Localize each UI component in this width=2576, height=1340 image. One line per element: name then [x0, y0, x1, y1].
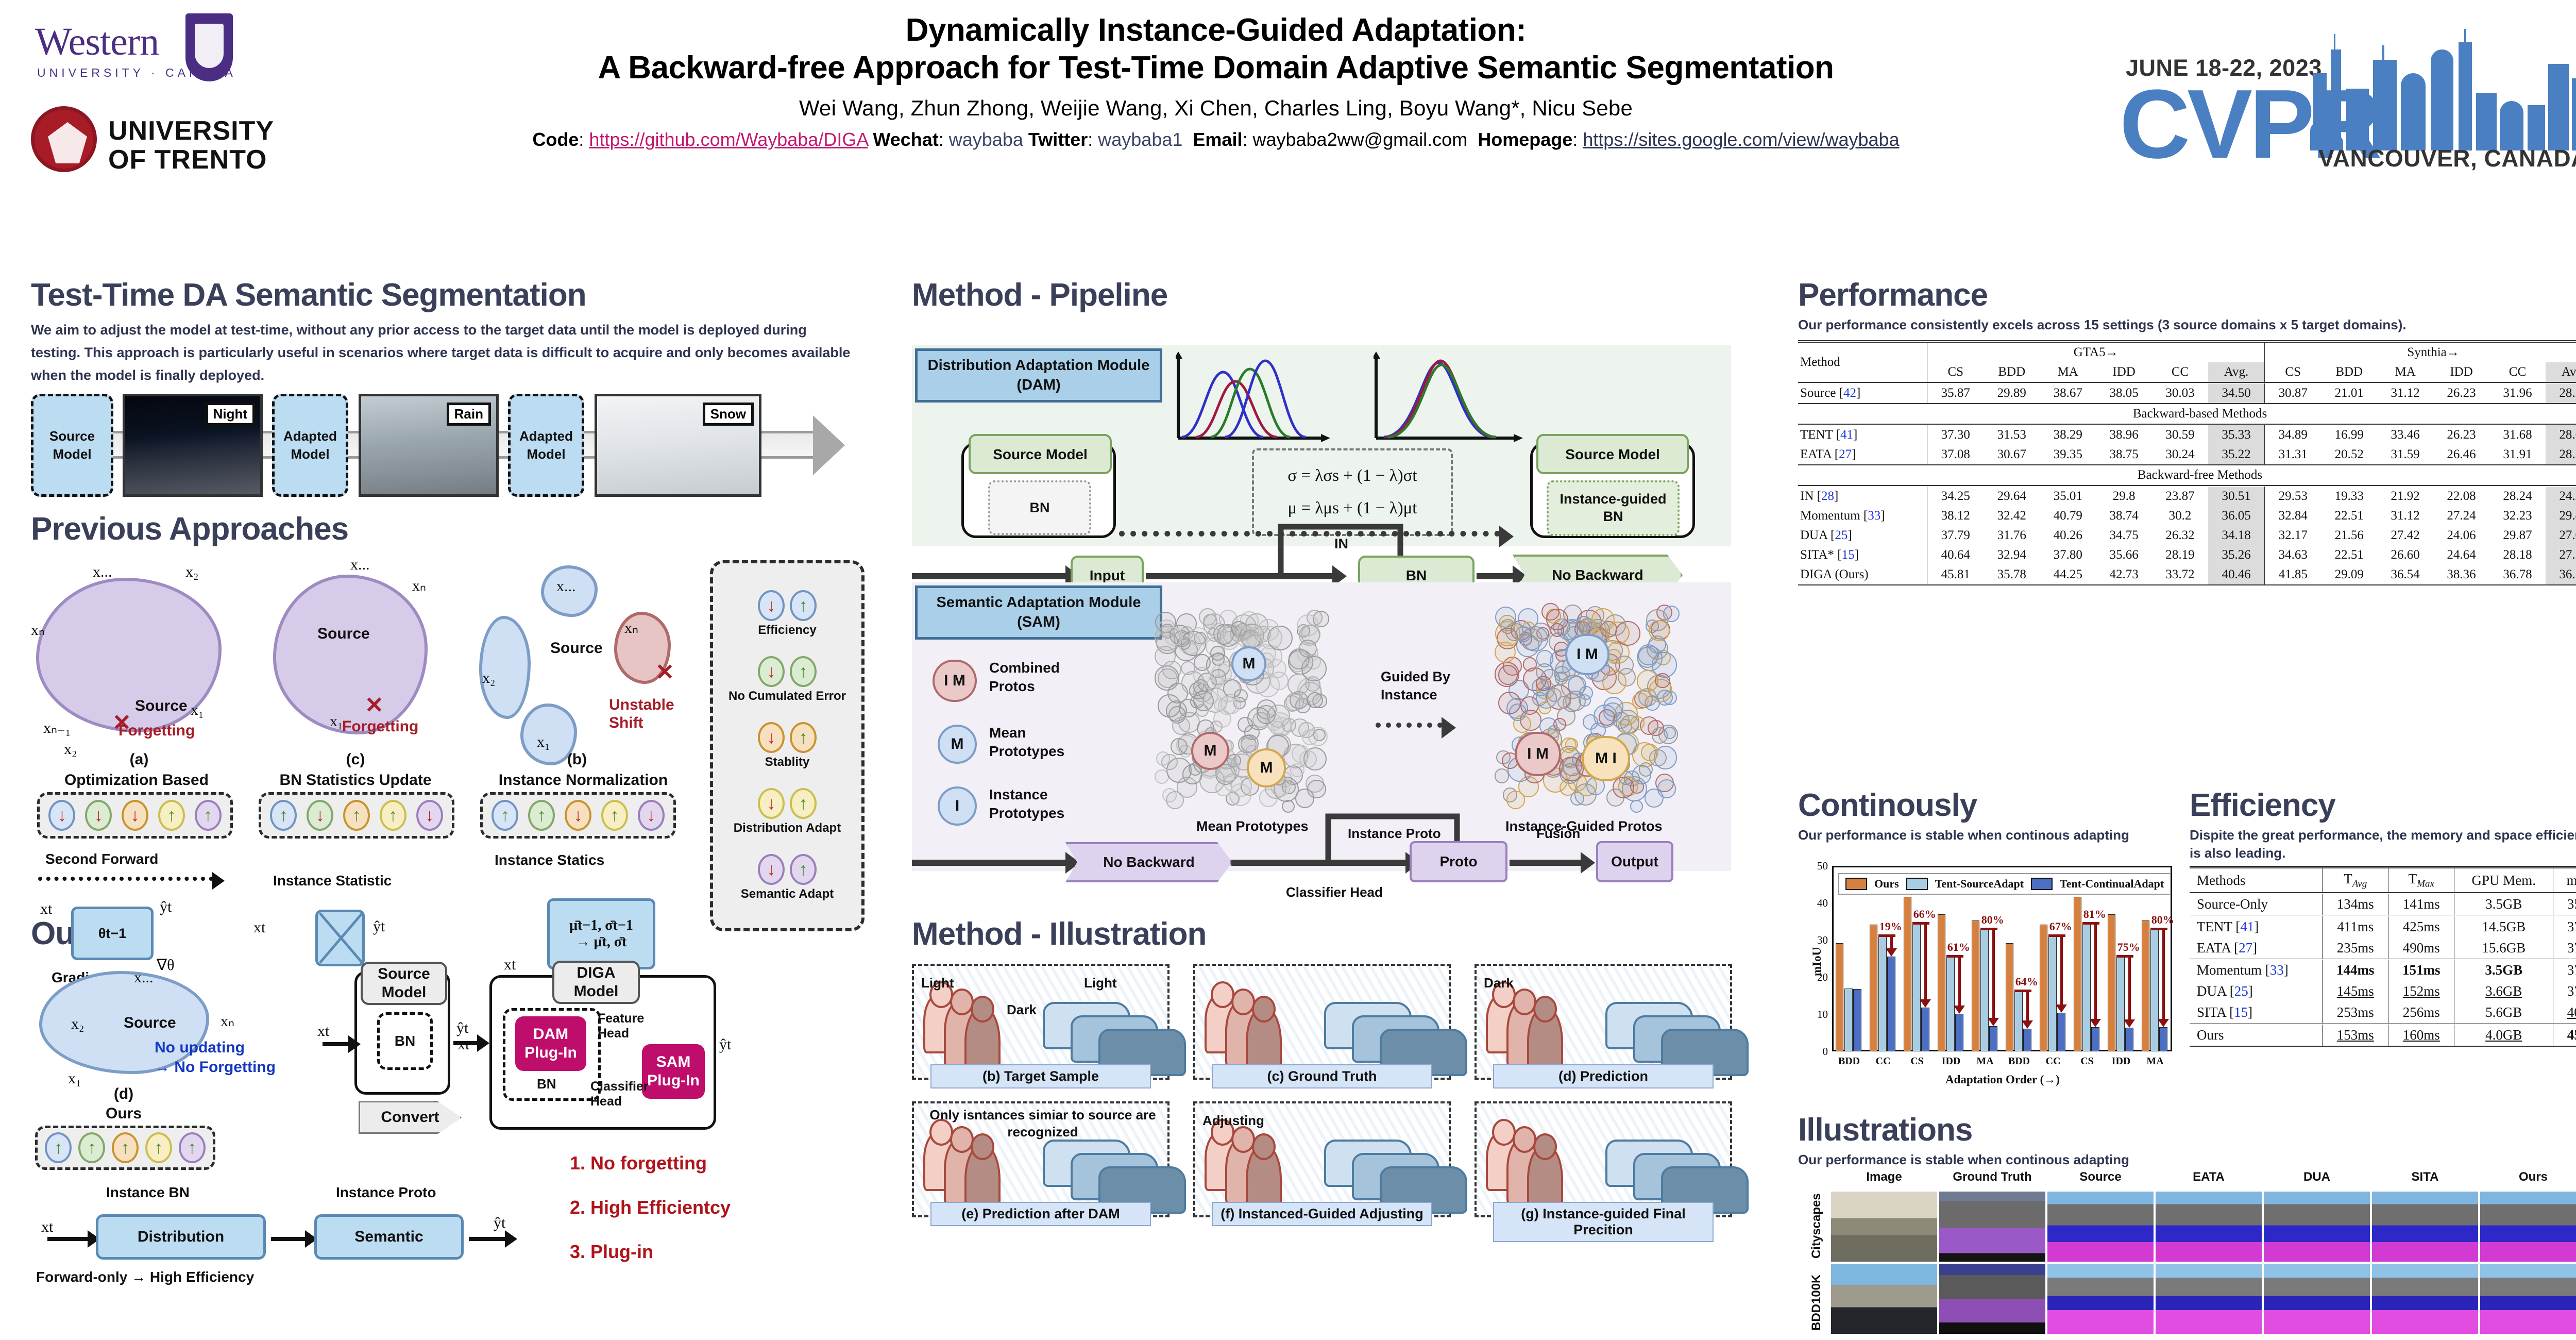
eff-gpu-cell: 4.0GB	[2485, 1027, 2522, 1043]
perf-method-cell: DIGA (Ours)	[1798, 565, 1927, 585]
proto-dot	[1155, 665, 1180, 691]
twitter-label: Twitter	[1028, 129, 1088, 150]
pill-group-ours: ↑ ↑ ↑ ↑ ↑	[35, 1126, 215, 1170]
illustration-grid: LightLightDark(b) Target Sample(c) Groun…	[912, 964, 1731, 1237]
pill-ours-5: ↑	[179, 1132, 206, 1163]
legend-mean-proto-label: Mean Prototypes	[989, 724, 1064, 761]
bullet-2: 2. High Efficientcy	[570, 1197, 731, 1218]
chart-drop-arrow-icon	[2026, 990, 2029, 1021]
chart-bar	[2150, 928, 2159, 1051]
ig-proto-yellow: M I	[1582, 736, 1630, 781]
convert-arrow: Convert	[359, 1101, 462, 1134]
poster-header: Western UNIVERSITY · CANADA UNIVERSITY O…	[0, 0, 2576, 242]
perf-cell: 22.08	[2433, 487, 2489, 506]
label-b-x2: x₂	[482, 669, 495, 687]
eff-tmax-cell: 141ms	[2403, 896, 2440, 912]
ours-diagram: x... x₂ xₙ x₁ Source No updating → No Fo…	[31, 950, 876, 1321]
proto-dot	[1652, 727, 1668, 743]
label-a-xdots: x...	[93, 563, 112, 581]
legend-pill-up-1: ↑	[790, 590, 817, 621]
proto-dot	[1189, 627, 1209, 647]
vancouver-skyline-icon	[2308, 27, 2576, 150]
column-right: Performance Our performance consistently…	[1798, 278, 2576, 334]
arrow-second-forward	[38, 877, 213, 881]
sam-no-backward-chevron: No Backward	[1065, 842, 1232, 882]
legend-label-4: Semantic Adapt	[741, 887, 834, 901]
lowflow-yhat: ŷt	[494, 1214, 505, 1232]
perf-cell: 36.78	[2489, 565, 2546, 585]
pill-ours-4: ↑	[145, 1132, 172, 1163]
ours-label-x2: x₂	[71, 1015, 84, 1033]
eff-tmax-cell: 425ms	[2403, 919, 2440, 934]
performance-subtitle: Our performance consistently excels acro…	[1798, 316, 2576, 334]
illustration-label: Light	[1084, 975, 1117, 991]
label-c-x1: x₁	[330, 713, 343, 730]
arch-xt-left: xt	[317, 1023, 329, 1040]
proto-dot	[1536, 688, 1556, 709]
segmentation-grid: ImageGround TruthSourceEATADUASITAOursCi…	[1798, 1170, 2576, 1340]
table-row: TENT [41]37.3031.5338.2938.9630.5935.333…	[1798, 425, 2576, 445]
legend-pill-up-5: ↑	[790, 854, 817, 885]
perf-col-synthia-IDD: IDD	[2433, 362, 2489, 382]
perf-cell: 21.01	[2321, 383, 2377, 404]
caption-c-name: BN Statistics Update	[252, 772, 459, 789]
legend-pill-down-5: ↓	[758, 854, 785, 885]
perf-cell: 28.18	[2489, 545, 2546, 565]
dam-source-model-label: Source Model	[969, 434, 1112, 474]
perf-cell: 29.45	[2546, 506, 2576, 526]
perf-cell: 31.68	[2489, 425, 2546, 445]
ttda-flow-diagram: SourceModel Night AdaptedModel Rain Adap…	[31, 394, 876, 497]
dam-source-model-label-2: Source Model	[1536, 434, 1689, 474]
chart-legend: OursTent-SourceAdaptTent-ContinualAdapt	[1838, 873, 2171, 895]
dam-bn-box: BN	[988, 480, 1091, 535]
label-a-xn1: xₙ₋₁	[43, 719, 71, 737]
mean-proto-blue: M	[1231, 646, 1266, 681]
chart-drop-arrow-icon	[2128, 955, 2131, 1020]
perf-cell: 33.72	[2152, 565, 2208, 585]
proto-dot	[1645, 789, 1664, 808]
chart-drop-arrow-icon	[1924, 922, 1927, 1000]
legend-label-3: Distribution Adapt	[734, 821, 841, 835]
perf-cell: 36.05	[2208, 506, 2265, 526]
perf-method-cell: IN [28]	[1798, 487, 1927, 506]
perf-cell: 29.87	[2489, 526, 2546, 545]
title-block: Dynamically Instance-Guided Adaptation: …	[330, 11, 2102, 150]
homepage-url-link[interactable]: https://sites.google.com/view/waybaba	[1583, 129, 1899, 150]
eff-method-cell: DUA [25]	[2190, 981, 2323, 1002]
arrow-lowflow-out	[469, 1237, 506, 1241]
eff-gpu-cell: 15.6GB	[2482, 940, 2526, 956]
column-left: Test-Time DA Semantic Segmentation We ai…	[31, 278, 876, 1321]
person-head-shape	[1513, 989, 1536, 1015]
lowflow-xt: xt	[41, 1218, 53, 1236]
twitter-value: waybaba1	[1098, 129, 1182, 150]
chart-xtick: CC	[1866, 1056, 1900, 1067]
perf-cell: 19.33	[2321, 487, 2377, 506]
label-opt-yhat: ŷt	[160, 898, 172, 916]
proto-dot	[1505, 623, 1523, 641]
illustration-label: Adjusting	[1202, 1113, 1264, 1129]
proto-dot	[1563, 693, 1582, 712]
proto-dot	[1292, 745, 1309, 762]
warn-a: Forgetting	[118, 722, 195, 740]
perf-group-gta5: GTA5→	[1927, 342, 2265, 363]
eff-col-1: TAvg	[2323, 867, 2388, 893]
ours-label-xn: xₙ	[221, 1012, 234, 1030]
perf-cell: 40.64	[1927, 545, 1984, 565]
perf-cell: 31.53	[1984, 425, 2040, 445]
chart-drop-arrow-icon	[2094, 922, 2097, 1020]
perf-cell: 26.32	[2152, 526, 2208, 545]
perf-cell: 32.23	[2489, 506, 2546, 526]
proto-dot	[1210, 721, 1223, 733]
pill-c-1: ↑	[270, 800, 297, 831]
chart-legend-label: Ours	[1874, 877, 1899, 891]
illustration-title: Method - Illustration	[912, 917, 1206, 951]
perf-cell: 32.17	[2265, 526, 2321, 545]
perf-cell: 22.51	[2321, 506, 2377, 526]
logo-group: Western UNIVERSITY · CANADA UNIVERSITY O…	[31, 10, 268, 182]
sam-header: Semantic Adaptation Module (SAM)	[915, 585, 1162, 640]
legend-no-cumulated-error: ↓↑ No Cumulated Error	[728, 656, 846, 703]
eff-tmax-cell: 160ms	[2403, 1027, 2440, 1043]
efficiency-title: Efficiency	[2190, 789, 2576, 822]
perf-cell: 27.79	[2546, 545, 2576, 565]
code-url-link[interactable]: https://github.com/Waybaba/DIGA	[589, 129, 868, 150]
pill-c-5: ↓	[416, 800, 443, 831]
source-model-label: Source Model	[361, 962, 447, 1005]
perf-cell: 40.46	[2208, 565, 2265, 585]
ours-caption-letter: (d)	[88, 1085, 160, 1103]
perf-cell: 29.53	[2265, 487, 2321, 506]
label-a-x2top: x₂	[185, 563, 198, 581]
chart-bar	[2108, 914, 2116, 1051]
chart-drop-arrow-icon	[1992, 928, 1995, 1019]
bullet-1: 1. No forgetting	[570, 1152, 707, 1174]
perf-cell: 28.19	[2152, 545, 2208, 565]
perf-col-gta5-Avg.: Avg.	[2208, 362, 2265, 382]
perf-cell: 22.51	[2321, 545, 2377, 565]
eff-tavg-cell: 153ms	[2337, 1027, 2374, 1043]
proto-dot	[1553, 718, 1566, 731]
email-value: waybaba2ww@gmail.com	[1252, 129, 1467, 150]
arch-yhat-right: ŷt	[719, 1036, 731, 1053]
person-head-shape	[1231, 989, 1255, 1015]
proto-dot	[1218, 696, 1237, 715]
guided-by-instance-arrow	[1376, 723, 1443, 728]
illustration-label: Light	[921, 975, 954, 991]
western-wordmark: Western	[35, 20, 159, 64]
seg-cell	[2372, 1264, 2478, 1334]
chart-xtick: BDD	[2002, 1056, 2036, 1067]
label-bn-yhat: ŷt	[373, 918, 385, 935]
chart-pct-label: 80%	[2151, 913, 2174, 927]
perf-cell: 26.23	[2433, 383, 2489, 404]
pill-b-1: ↑	[492, 800, 518, 831]
chart-bar	[1887, 957, 1895, 1051]
perf-cell: 31.12	[2377, 506, 2433, 526]
perf-cell: 28.24	[2546, 383, 2576, 404]
chart-bar	[1989, 1026, 1997, 1051]
chart-bar	[2023, 1029, 2031, 1051]
legend-pill-down-1: ↓	[758, 590, 785, 621]
proto-dot	[1305, 676, 1320, 692]
perf-cell: 38.74	[2096, 506, 2152, 526]
eff-method-cell: TENT [41]	[2190, 916, 2323, 937]
dam-flow-arrow-2	[1477, 573, 1514, 579]
illustration-label: Dark	[1484, 975, 1514, 991]
proto-dot	[1158, 694, 1181, 717]
perf-cell: 29.89	[1984, 383, 2040, 404]
legend-instance-proto-label: Instance Prototypes	[989, 785, 1064, 823]
person-head-shape	[1252, 996, 1276, 1023]
proto-dot	[1568, 676, 1586, 694]
ours-label-xdots: x...	[134, 969, 154, 986]
trento-seal-icon	[31, 106, 97, 172]
eff-method-cell: SITA [15]	[2190, 1002, 2323, 1024]
seg-col-header: Ours	[2480, 1170, 2576, 1184]
warn-c: Forgetting	[342, 718, 418, 736]
label-c-xdots: x...	[350, 556, 370, 574]
perf-col-synthia-CC: CC	[2489, 362, 2546, 382]
ours-note: No updating → No Forgetting	[155, 1038, 276, 1077]
label-c-source: Source	[317, 625, 370, 643]
previous-diagram: x... x₂ xₙ xₙ₋₁ x₁ x₂ Source ✕ Forgettin…	[31, 549, 876, 920]
perf-cell: 26.60	[2377, 545, 2433, 565]
chart-bar	[2006, 943, 2014, 1051]
chart-ytick: 50	[1809, 860, 1828, 873]
pill-a-5: ↑	[195, 800, 222, 831]
perf-cell: 30.59	[2152, 425, 2208, 445]
proto-dot	[1229, 783, 1251, 806]
perf-cell: 26.23	[2433, 425, 2489, 445]
wechat-label: Wechat	[873, 129, 938, 150]
seg-col-header: EATA	[2156, 1170, 2262, 1184]
flow-tag-snow: Snow	[703, 403, 754, 426]
seg-cell	[2480, 1264, 2576, 1334]
label-b-source: Source	[550, 640, 603, 657]
label-c-xn: xₙ	[412, 577, 426, 595]
homepage-label: Homepage	[1478, 129, 1572, 150]
illustration-cell: LightLightDark	[912, 964, 1170, 1080]
ours-label-source: Source	[124, 1014, 176, 1032]
pipeline-title: Method - Pipeline	[912, 278, 1752, 312]
classifier-head-label: Classifier Head	[590, 1079, 649, 1109]
perf-cell: 34.18	[2208, 526, 2265, 545]
chart-xtick: CS	[2070, 1056, 2104, 1067]
perf-cell: 31.76	[1984, 526, 2040, 545]
proto-dot	[1639, 762, 1653, 776]
guided-by-instance-label: Guided By Instance	[1381, 668, 1450, 704]
perf-group-synthia: Synthia→	[2265, 342, 2576, 363]
perf-cell: 29.09	[2321, 565, 2377, 585]
chart-bar	[2125, 1028, 2133, 1051]
proto-dot	[1649, 620, 1670, 641]
chart-pct-label: 61%	[1947, 941, 1970, 954]
wechat-value: waybaba	[949, 129, 1023, 150]
perf-col-gta5-IDD: IDD	[2096, 362, 2152, 382]
chart-legend-label: Tent-SourceAdapt	[1935, 877, 2024, 891]
proto-dot	[1657, 690, 1673, 706]
poster-root: Western UNIVERSITY · CANADA UNIVERSITY O…	[0, 0, 2576, 1334]
ig-proto-red: I M	[1515, 732, 1561, 776]
eff-col-0: Methods	[2190, 867, 2323, 893]
chart-bar	[1904, 897, 1912, 1051]
section-previous-approaches: Previous Approaches x... x₂ xₙ xₙ₋₁ x₁ x…	[31, 512, 876, 920]
caption-a-letter: (a)	[108, 751, 170, 768]
perf-cell: 35.78	[1984, 565, 2040, 585]
perf-cell: 42.73	[2096, 565, 2152, 585]
ours-note-line-2: → No Forgetting	[155, 1059, 276, 1076]
eff-method-cell: EATA [27]	[2190, 937, 2323, 959]
pill-group-b: ↑ ↑ ↓ ↑ ↓	[480, 792, 676, 839]
seg-cell	[1939, 1192, 2045, 1262]
arrow-distribution-to-semantic	[271, 1237, 306, 1241]
illustration-caption: (f) Instanced-Guided Adjusting	[1212, 1202, 1432, 1226]
illustrations-subtitle: Our performance is stable when continous…	[1798, 1151, 2576, 1169]
proto-dot	[1536, 650, 1553, 667]
eff-miou-cell: 37.79	[2567, 983, 2576, 999]
perf-col-gta5-BDD: BDD	[1984, 362, 2040, 382]
eff-gpu-cell: 14.5GB	[2482, 919, 2526, 934]
chart-bar	[1844, 989, 1853, 1051]
seg-cell	[1831, 1264, 1937, 1334]
perf-cell: 41.85	[2265, 565, 2321, 585]
caption-b-name: Instance Normalization	[475, 772, 691, 789]
eff-tmax-cell: 152ms	[2403, 983, 2440, 999]
flow-adapted-model-1: AdaptedModel	[272, 394, 348, 497]
perf-cell: 39.35	[2040, 445, 2096, 465]
perf-cell: 29.64	[1984, 487, 2040, 506]
dam-dist-before-chart	[1176, 351, 1330, 442]
legend-label-1: No Cumulated Error	[728, 689, 846, 703]
pill-c-3: ↑	[343, 800, 370, 831]
illustration-cell	[1475, 1101, 1732, 1217]
perf-cell: 34.63	[2265, 545, 2321, 565]
caption-b-letter: (b)	[546, 751, 608, 768]
eff-tmax-cell: 490ms	[2403, 940, 2440, 956]
box-distribution: Distribution	[96, 1214, 266, 1260]
seg-col-header: Image	[1831, 1170, 1937, 1184]
illustration-caption: (d) Prediction	[1493, 1064, 1714, 1088]
perf-cell: 30.67	[1984, 445, 2040, 465]
eff-gpu-cell: 3.5GB	[2485, 962, 2522, 978]
lowflow-footer: Forward-only → High Efficiency	[36, 1269, 254, 1285]
western-shield-icon	[185, 13, 233, 81]
proto-dot	[1559, 757, 1584, 781]
table-row: SITA* [15]40.6432.9437.8035.6628.1935.26…	[1798, 545, 2576, 565]
person-head-shape	[1533, 1133, 1557, 1160]
eff-gpu-cell: 3.5GB	[2485, 896, 2522, 912]
seg-cell	[2264, 1192, 2370, 1262]
seg-cell	[2264, 1264, 2370, 1334]
table-row: EATA [27]235ms490ms15.6GB37.08	[2190, 937, 2576, 959]
legend-pill-up-4: ↑	[790, 788, 817, 819]
proto-dot	[1295, 789, 1314, 808]
table-row: Momentum [33]38.1232.4240.7938.7430.236.…	[1798, 506, 2576, 526]
chart-drop-arrow-icon	[1890, 934, 1893, 949]
table-row: TENT [41]411ms425ms14.5GB37.30	[2190, 916, 2576, 937]
bullet-3: 3. Plug-in	[570, 1241, 653, 1263]
chart-bar	[1972, 920, 1980, 1051]
table-row: DUA [25]37.7931.7640.2634.7526.3234.1832…	[1798, 526, 2576, 545]
proto-dot	[1171, 738, 1188, 755]
pill-a-3: ↓	[122, 800, 148, 831]
proto-dot	[1603, 702, 1622, 721]
chart-legend-swatch	[1906, 878, 1928, 890]
chart-xtick: BDD	[1832, 1056, 1866, 1067]
proto-dot	[1495, 662, 1520, 687]
flow-image-rain: Rain	[359, 394, 499, 497]
perf-cell: 37.30	[1927, 425, 1984, 445]
table-row: EATA [27]37.0830.6739.3538.7530.2435.223…	[1798, 445, 2576, 465]
cvpr-logo: JUNE 18-22, 2023 CVPR VANCOUVER, CANADA	[2112, 9, 2576, 179]
eff-tavg-cell: 145ms	[2337, 983, 2374, 999]
perf-cell: 27.42	[2377, 526, 2433, 545]
proto-dot	[1299, 625, 1320, 646]
perf-cell: 38.75	[2096, 445, 2152, 465]
box-semantic: Semantic	[314, 1214, 464, 1260]
label-instance-bn: Instance BN	[106, 1184, 190, 1201]
perf-cell: 27.24	[2433, 506, 2489, 526]
chart-xtick: MA	[1968, 1056, 2002, 1067]
ours-note-line-1: No updating	[155, 1039, 245, 1056]
seg-row-label: Cityscapes	[1809, 1193, 1824, 1259]
perf-cell: 23.87	[2152, 487, 2208, 506]
perf-cell: 38.05	[2096, 383, 2152, 404]
continuous-adaptation-chart: 01020304050BDDCCCSIDDMABDDCCCSIDDMA19%66…	[1803, 861, 2174, 1087]
person-head-shape	[1252, 1133, 1276, 1160]
trento-line-1: UNIVERSITY	[108, 116, 274, 146]
caption-c-letter: (c)	[325, 751, 386, 768]
chart-pct-label: 66%	[1913, 908, 1936, 921]
western-university-logo: Western UNIVERSITY · CANADA	[31, 10, 247, 103]
illustration-caption: (c) Ground Truth	[1212, 1064, 1432, 1088]
perf-cell: 28.36	[2546, 445, 2576, 465]
pill-ours-3: ↑	[112, 1132, 139, 1163]
chart-bar	[2057, 1013, 2065, 1051]
eff-gpu-cell: 5.6GB	[2485, 1004, 2522, 1020]
perf-cell: 40.26	[2040, 526, 2096, 545]
legend-distribution-adapt: ↓↑ Distribution Adapt	[734, 788, 841, 835]
perf-cell: 34.50	[2208, 383, 2265, 404]
chart-pct-label: 64%	[2015, 975, 2038, 989]
chart-bar	[1912, 922, 1921, 1051]
arch-yhat-left: ŷt	[456, 1019, 468, 1037]
perf-cell: 31.91	[2489, 445, 2546, 465]
eff-tavg-cell: 144ms	[2336, 962, 2375, 978]
arrow-lowflow-in	[47, 1237, 89, 1241]
eff-method-cell: Ours	[2190, 1025, 2323, 1046]
eff-method-cell: Momentum [33]	[2190, 960, 2323, 981]
ours-label-x1: x₁	[68, 1070, 81, 1087]
chart-bar	[1836, 943, 1844, 1051]
label-second-forward: Second Forward	[45, 851, 158, 867]
perf-cell: 28.65	[2546, 425, 2576, 445]
chart-drop-arrow-icon	[2060, 934, 2063, 1006]
section-ours: Ours x... x₂ xₙ x₁ Source No updating → …	[31, 917, 876, 1321]
flow-image-night: Night	[123, 394, 263, 497]
flow-image-snow: Snow	[595, 394, 761, 497]
eff-tavg-cell: 235ms	[2337, 940, 2374, 956]
section-continuously: Continously Our performance is stable wh…	[1798, 789, 2190, 844]
chart-bar	[1870, 925, 1878, 1051]
seg-col-header: Source	[2047, 1170, 2154, 1184]
seg-row-label: BDD100K	[1809, 1275, 1824, 1331]
cvpr-city: VANCOUVER, CANADA	[2318, 144, 2576, 172]
code-label: Code	[532, 129, 579, 150]
